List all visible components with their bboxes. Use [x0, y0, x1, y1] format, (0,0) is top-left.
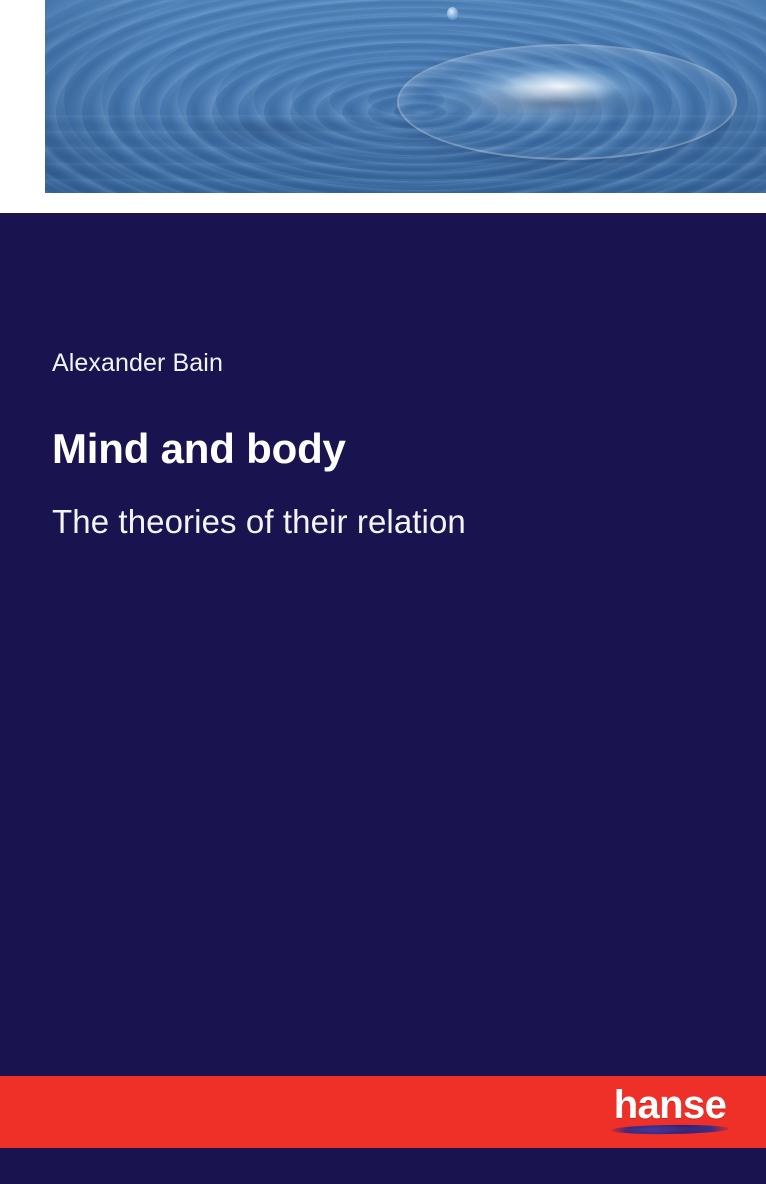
photo-vignette: [45, 0, 766, 193]
publisher-band: hanse: [0, 1076, 766, 1148]
cover-photo-band: [0, 0, 766, 213]
book-cover: Alexander Bain Mind and body The theorie…: [0, 0, 766, 1184]
title-block: Alexander Bain Mind and body The theorie…: [52, 348, 712, 541]
book-title: Mind and body: [52, 378, 712, 472]
cover-body: Alexander Bain Mind and body The theorie…: [0, 213, 766, 1184]
publisher-logo-text: hanse: [608, 1081, 732, 1129]
author-name: Alexander Bain: [52, 348, 712, 378]
water-ripple-photo: [45, 0, 766, 193]
publisher-logo: hanse: [608, 1081, 732, 1143]
book-subtitle: The theories of their relation: [52, 472, 712, 541]
